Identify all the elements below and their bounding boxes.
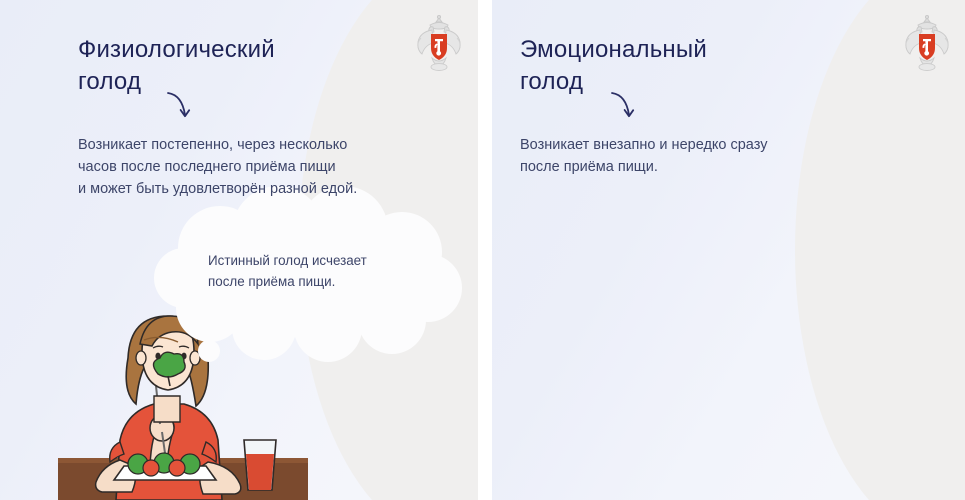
thought-cloud: Истинный голод исчезает после приёма пищ… xyxy=(160,196,460,356)
panel-emotional-hunger: Эмоциональный голод Возникает внезапно и… xyxy=(492,0,965,500)
panel-divider xyxy=(478,0,492,500)
panel-body-text: Возникает внезапно и нередко сразу после… xyxy=(520,134,900,178)
panel-physiological-hunger: Физиологический голод Возникает постепен… xyxy=(0,0,478,500)
curved-arrow-down-icon xyxy=(608,87,642,125)
russia-ministry-of-health-emblem xyxy=(412,14,466,76)
text-block: Физиологический голод Возникает постепен… xyxy=(78,34,448,200)
infographic-stage: Физиологический голод Возникает постепен… xyxy=(0,0,965,500)
text-block: Эмоциональный голод Возникает внезапно и… xyxy=(520,34,900,178)
curved-arrow-down-icon xyxy=(164,87,198,125)
thought-bubble-dot xyxy=(198,340,220,362)
page-title: Эмоциональный голод xyxy=(520,34,900,98)
page-title: Физиологический голод xyxy=(78,34,448,98)
panel-body-text: Возникает постепенно, через несколько ча… xyxy=(78,134,448,200)
russia-ministry-of-health-emblem xyxy=(900,14,954,76)
thought-cloud-text: Истинный голод исчезает после приёма пищ… xyxy=(208,250,448,292)
